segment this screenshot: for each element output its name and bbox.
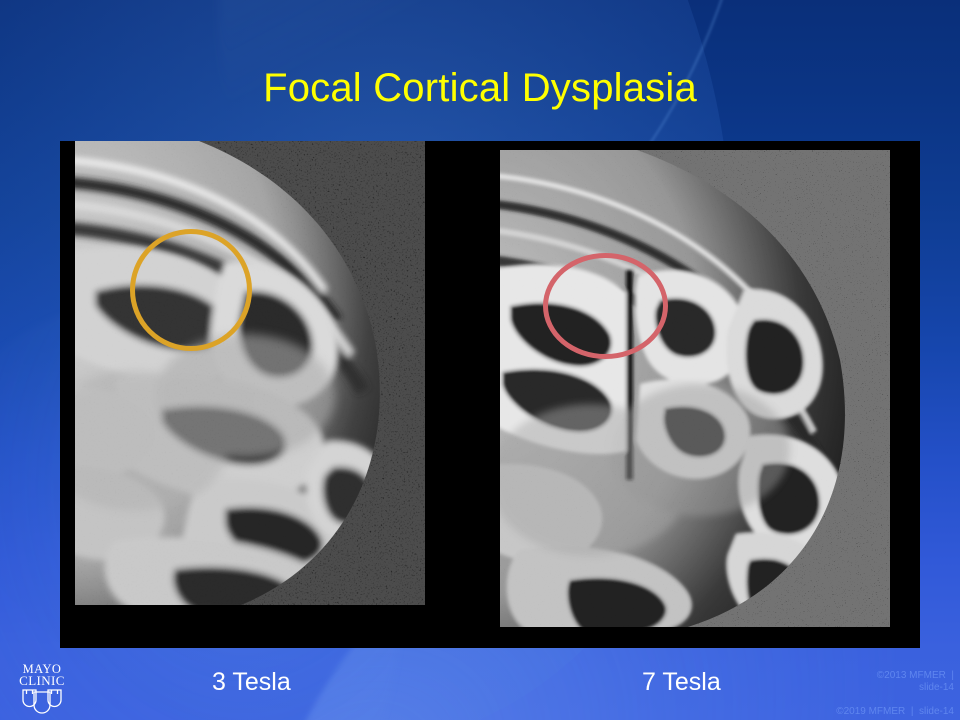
caption-7-tesla: 7 Tesla: [642, 666, 721, 698]
slide-title: Focal Cortical Dysplasia: [0, 64, 960, 112]
image-panel: [60, 141, 920, 648]
caption-3-tesla: 3 Tesla: [212, 666, 291, 698]
mri-7t-render: [500, 150, 890, 627]
copyright-primary: ©2013 MFMER | slide-14: [877, 670, 954, 694]
roi-circle-7t: [543, 253, 668, 359]
roi-circle-3t: [130, 229, 252, 351]
mri-image-3-tesla: [75, 141, 425, 605]
mayo-clinic-logo: MAYO CLINIC: [14, 659, 70, 715]
svg-text:CLINIC: CLINIC: [19, 673, 65, 688]
mri-3t-render: [75, 141, 425, 605]
mri-image-7-tesla: [500, 150, 890, 627]
mayo-clinic-logo-mark: MAYO CLINIC: [14, 659, 70, 715]
copyright-secondary: ©2019 MFMER | slide-14: [836, 706, 954, 718]
slide-canvas: Focal Cortical Dysplasia: [0, 0, 960, 720]
